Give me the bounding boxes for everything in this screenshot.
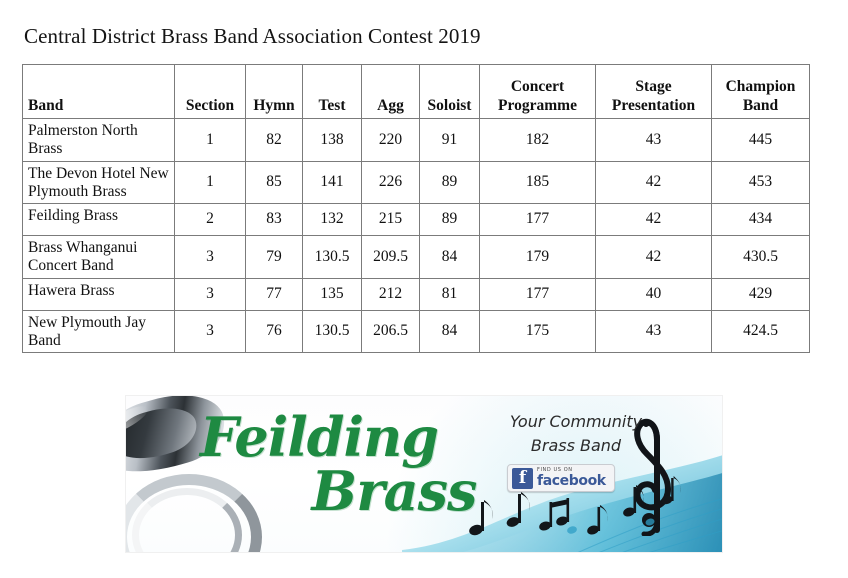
table-header-row: Band Section Hymn Test Agg Soloist Conce… xyxy=(23,65,810,119)
cell-stage-presentation-score: 42 xyxy=(596,204,712,236)
cell-band-name: Hawera Brass xyxy=(23,278,175,310)
cell-band-name: Brass Whanganui Concert Band xyxy=(23,236,175,279)
cell-soloist-score: 84 xyxy=(420,236,480,279)
cell-hymn-score: 85 xyxy=(246,161,303,204)
facebook-badge-text: Find us on facebook xyxy=(537,468,606,488)
table-header: Band Section Hymn Test Agg Soloist Conce… xyxy=(23,65,810,119)
cell-hymn-score: 77 xyxy=(246,278,303,310)
cell-concert-programme-score: 175 xyxy=(480,310,596,353)
column-header-stage-line1: Stage xyxy=(600,78,707,96)
cell-champion-band-score: 430.5 xyxy=(712,236,810,279)
cell-champion-band-score: 445 xyxy=(712,119,810,162)
cell-soloist-score: 89 xyxy=(420,204,480,236)
cell-band-name: Palmerston North Brass xyxy=(23,119,175,162)
cell-section: 1 xyxy=(175,161,246,204)
cell-concert-programme-score: 182 xyxy=(480,119,596,162)
cell-stage-presentation-score: 42 xyxy=(596,161,712,204)
cell-test-score: 138 xyxy=(303,119,362,162)
column-header-hymn: Hymn xyxy=(246,65,303,119)
column-header-band: Band xyxy=(23,65,175,119)
cell-test-score: 132 xyxy=(303,204,362,236)
cell-champion-band-score: 453 xyxy=(712,161,810,204)
column-header-section: Section xyxy=(175,65,246,119)
cell-band-name: Feilding Brass xyxy=(23,204,175,236)
column-header-test: Test xyxy=(303,65,362,119)
facebook-badge[interactable]: f Find us on facebook xyxy=(507,464,615,492)
column-header-soloist: Soloist xyxy=(420,65,480,119)
cell-champion-band-score: 429 xyxy=(712,278,810,310)
column-header-champion-band: Champion Band xyxy=(712,65,810,119)
cell-agg-score: 215 xyxy=(362,204,420,236)
table-row: Hawera Brass3771352128117740429 xyxy=(23,278,810,310)
cell-section: 3 xyxy=(175,310,246,353)
cell-concert-programme-score: 185 xyxy=(480,161,596,204)
column-header-champion-line2: Band xyxy=(716,97,805,115)
cell-soloist-score: 84 xyxy=(420,310,480,353)
cell-test-score: 135 xyxy=(303,278,362,310)
cell-agg-score: 212 xyxy=(362,278,420,310)
table-row: New Plymouth Jay Band376130.5206.5841754… xyxy=(23,310,810,353)
tagline-line1: Your Community xyxy=(478,410,674,434)
cell-champion-band-score: 434 xyxy=(712,204,810,236)
table-row: Palmerston North Brass182138220911824344… xyxy=(23,119,810,162)
tagline-line2: Brass Band xyxy=(478,434,674,458)
cell-agg-score: 226 xyxy=(362,161,420,204)
facebook-wordmark: facebook xyxy=(537,474,606,488)
cell-stage-presentation-score: 43 xyxy=(596,119,712,162)
contest-results-table: Band Section Hymn Test Agg Soloist Conce… xyxy=(22,64,810,353)
cell-test-score: 130.5 xyxy=(303,310,362,353)
cell-section: 3 xyxy=(175,278,246,310)
column-header-champion-line1: Champion xyxy=(716,78,805,96)
cell-soloist-score: 91 xyxy=(420,119,480,162)
cell-stage-presentation-score: 42 xyxy=(596,236,712,279)
cell-soloist-score: 81 xyxy=(420,278,480,310)
cell-hymn-score: 76 xyxy=(246,310,303,353)
table-row: Brass Whanganui Concert Band379130.5209.… xyxy=(23,236,810,279)
cell-test-score: 130.5 xyxy=(303,236,362,279)
banner-tagline: Your Community Brass Band xyxy=(478,410,674,458)
cell-stage-presentation-score: 43 xyxy=(596,310,712,353)
cell-section: 1 xyxy=(175,119,246,162)
table-body: Palmerston North Brass182138220911824344… xyxy=(23,119,810,353)
feilding-brass-banner: Feilding Brass Your Community Brass Band… xyxy=(126,396,722,552)
cell-soloist-score: 89 xyxy=(420,161,480,204)
column-header-concert-programme: Concert Programme xyxy=(480,65,596,119)
cell-concert-programme-score: 177 xyxy=(480,278,596,310)
cell-champion-band-score: 424.5 xyxy=(712,310,810,353)
cell-section: 2 xyxy=(175,204,246,236)
facebook-icon: f xyxy=(512,468,533,489)
column-header-stage-presentation: Stage Presentation xyxy=(596,65,712,119)
column-header-concert-line1: Concert xyxy=(484,78,591,96)
column-header-concert-line2: Programme xyxy=(484,97,591,115)
table-row: The Devon Hotel New Plymouth Brass185141… xyxy=(23,161,810,204)
cell-band-name: The Devon Hotel New Plymouth Brass xyxy=(23,161,175,204)
results-table-container: Band Section Hymn Test Agg Soloist Conce… xyxy=(22,64,809,353)
cell-hymn-score: 83 xyxy=(246,204,303,236)
cell-agg-score: 220 xyxy=(362,119,420,162)
page-title: Central District Brass Band Association … xyxy=(24,24,481,49)
band-name-line2: Brass xyxy=(200,466,530,518)
column-header-agg: Agg xyxy=(362,65,420,119)
cell-concert-programme-score: 177 xyxy=(480,204,596,236)
cell-agg-score: 206.5 xyxy=(362,310,420,353)
cell-agg-score: 209.5 xyxy=(362,236,420,279)
cell-section: 3 xyxy=(175,236,246,279)
document-page: Central District Brass Band Association … xyxy=(0,0,848,578)
cell-concert-programme-score: 179 xyxy=(480,236,596,279)
cell-test-score: 141 xyxy=(303,161,362,204)
cell-band-name: New Plymouth Jay Band xyxy=(23,310,175,353)
cell-stage-presentation-score: 40 xyxy=(596,278,712,310)
cell-hymn-score: 82 xyxy=(246,119,303,162)
cell-hymn-score: 79 xyxy=(246,236,303,279)
table-row: Feilding Brass2831322158917742434 xyxy=(23,204,810,236)
column-header-stage-line2: Presentation xyxy=(600,97,707,115)
